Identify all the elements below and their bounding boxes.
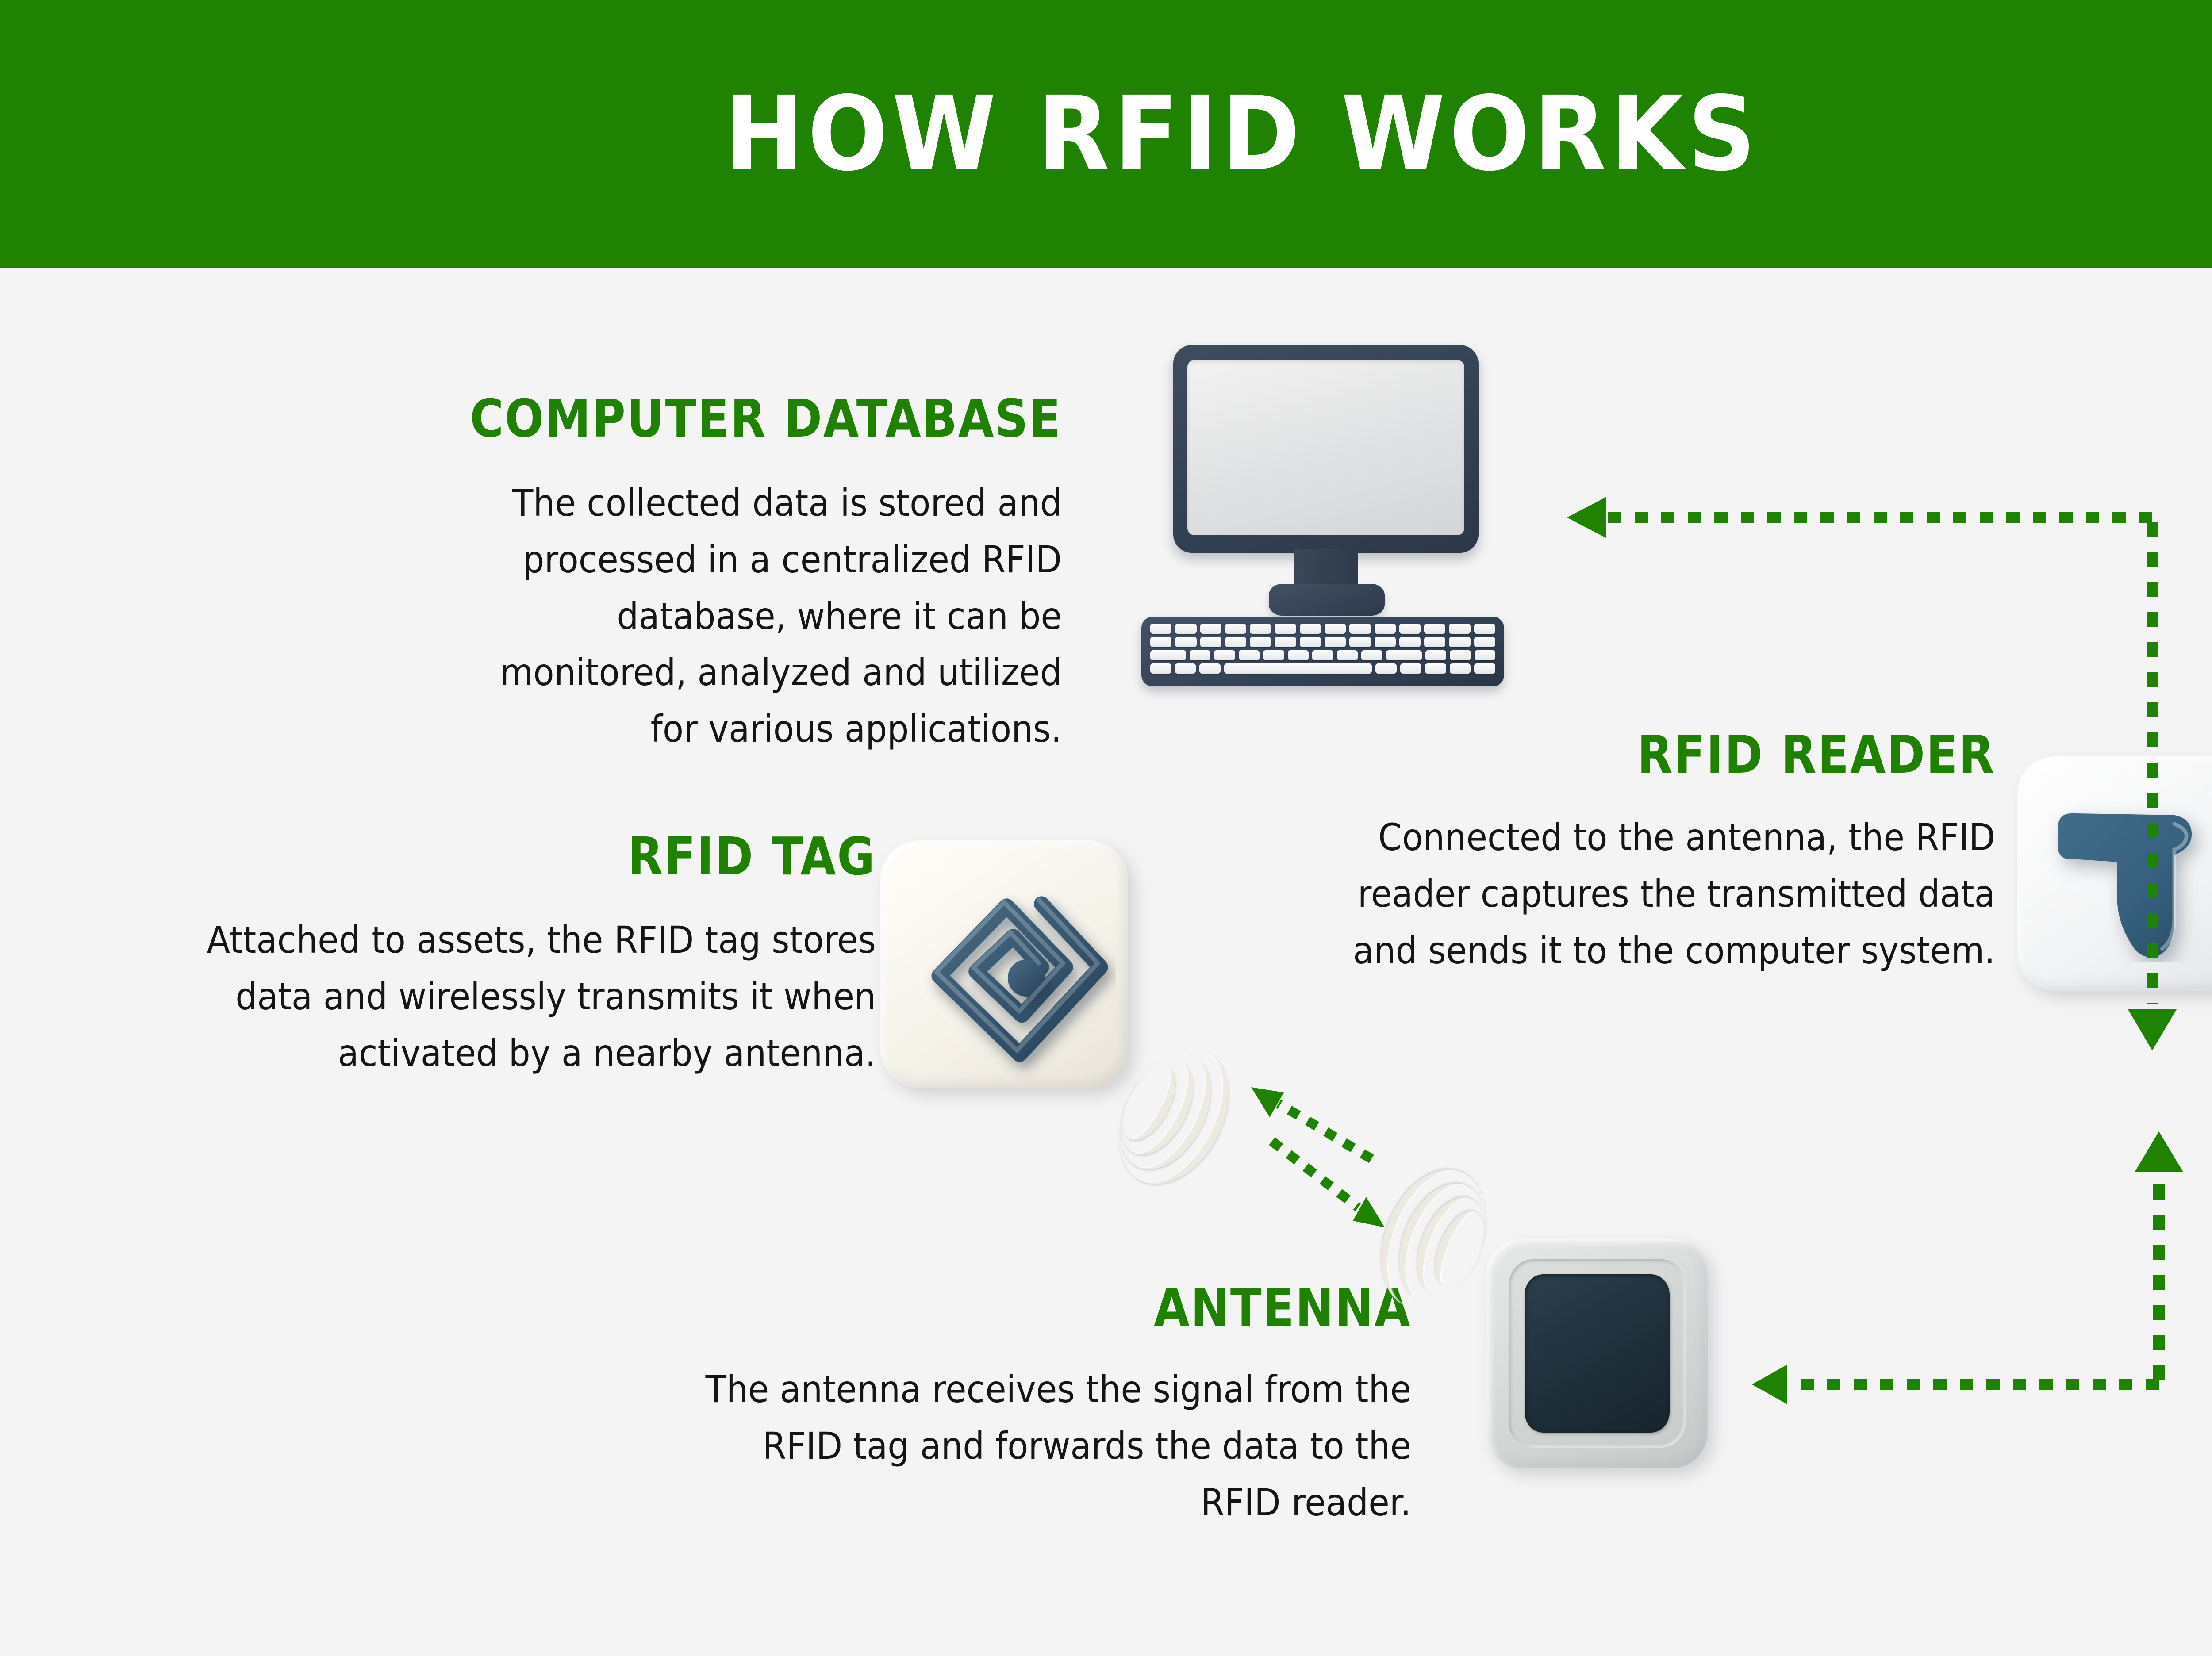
monitor-bezel [1173, 345, 1479, 553]
section-heading-antenna: ANTENNA [726, 1278, 1411, 1337]
section-computer-database: COMPUTER DATABASE The collected data is … [195, 389, 1062, 758]
section-body-rfid-tag: Attached to assets, the RFID tag stores … [184, 912, 876, 1081]
barcode-scanner-gun-icon [2017, 756, 2212, 991]
rfid-spiral-coil-icon [898, 862, 1116, 1081]
antenna-dark-panel [1525, 1274, 1670, 1433]
keyboard-row [1150, 650, 1495, 660]
antenna-outer-shell [1486, 1238, 1708, 1468]
section-heading-computer-database: COMPUTER DATABASE [299, 389, 1062, 448]
section-body-rfid-reader: Connected to the antenna, the RFID reade… [1295, 809, 1995, 979]
section-body-antenna: The antenna receives the signal from the… [695, 1361, 1411, 1531]
section-heading-rfid-tag: RFID TAG [214, 827, 876, 885]
antenna-inner-bezel [1509, 1259, 1686, 1448]
section-antenna: ANTENNA The antenna receives the signal … [633, 1278, 1411, 1531]
keyboard-row [1150, 624, 1495, 634]
monitor-screen [1187, 360, 1464, 535]
monitor-foot [1269, 584, 1385, 616]
page-title: HOW RFID WORKS [725, 74, 1760, 194]
section-rfid-tag: RFID TAG Attached to assets, the RFID ta… [124, 827, 876, 1081]
rfid-tag-card [880, 840, 1128, 1088]
antenna-panel-icon [1486, 1238, 1708, 1468]
arrow-reader-to-computer [1535, 451, 2181, 739]
desktop-computer-icon [1133, 345, 1522, 690]
section-rfid-reader: RFID READER Connected to the antenna, th… [1234, 725, 1995, 979]
arrow-tag-antenna-bidirectional [1225, 1075, 1473, 1274]
keyboard-row [1150, 663, 1495, 674]
scanner-gun-glyph [2036, 789, 2212, 962]
keyboard-row [1150, 637, 1495, 647]
keyboard-icon [1141, 617, 1504, 686]
header-banner: HOW RFID WORKS [0, 0, 2212, 268]
section-body-computer-database: The collected data is stored and process… [264, 475, 1062, 757]
arrow-antenna-to-reader [1734, 1092, 2212, 1455]
